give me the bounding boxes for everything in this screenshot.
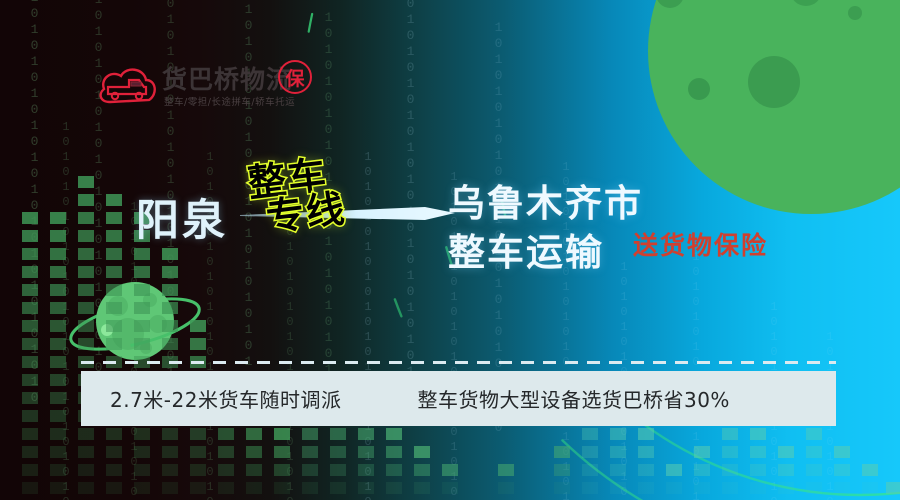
equalizer-block <box>22 374 38 386</box>
equalizer-block <box>50 338 66 350</box>
equalizer-block <box>134 428 150 440</box>
equalizer-block <box>722 428 738 440</box>
equalizer-block <box>750 464 766 476</box>
equalizer-block <box>106 284 122 296</box>
equalizer-block <box>274 446 290 458</box>
equalizer-block <box>22 320 38 332</box>
equalizer-block <box>50 284 66 296</box>
equalizer-block <box>694 482 710 494</box>
equalizer-block <box>106 194 122 206</box>
equalizer-block <box>274 482 290 494</box>
equalizer-block <box>78 230 94 242</box>
equalizer-block <box>834 446 850 458</box>
equalizer-column <box>442 464 458 500</box>
equalizer-column <box>694 446 710 500</box>
equalizer-block <box>190 446 206 458</box>
equalizer-column <box>666 464 682 500</box>
equalizer-block <box>190 320 206 332</box>
equalizer-block <box>134 320 150 332</box>
equalizer-block <box>50 248 66 260</box>
equalizer-block <box>50 464 66 476</box>
equalizer-block <box>750 428 766 440</box>
equalizer-block <box>498 482 514 494</box>
destination-service: 整车运输 <box>448 229 643 278</box>
equalizer-block <box>414 482 430 494</box>
equalizer-block <box>50 320 66 332</box>
equalizer-block <box>834 482 850 494</box>
equalizer-block <box>162 284 178 296</box>
equalizer-block <box>886 482 900 494</box>
equalizer-column <box>778 446 794 500</box>
equalizer-column <box>638 428 654 500</box>
equalizer-block <box>386 464 402 476</box>
equalizer-block <box>22 428 38 440</box>
equalizer-block <box>218 446 234 458</box>
equalizer-block <box>358 482 374 494</box>
equalizer-block <box>22 284 38 296</box>
equalizer-block <box>190 338 206 350</box>
equalizer-block <box>778 464 794 476</box>
destination-city: 乌鲁木齐市 <box>448 180 643 229</box>
equalizer-block <box>750 482 766 494</box>
equalizer-block <box>22 212 38 224</box>
equalizer-block <box>78 338 94 350</box>
equalizer-column <box>498 464 514 500</box>
equalizer-block <box>22 302 38 314</box>
equalizer-block <box>162 464 178 476</box>
insurance-badge-icon: 保 <box>278 60 312 94</box>
equalizer-column <box>834 446 850 500</box>
equalizer-block <box>106 320 122 332</box>
service-badge-line2: 专线 <box>264 190 348 236</box>
equalizer-block <box>162 320 178 332</box>
equalizer-block <box>302 482 318 494</box>
equalizer-block <box>22 392 38 404</box>
equalizer-block <box>638 464 654 476</box>
equalizer-block <box>582 428 598 440</box>
info-bar-left-text: 2.7米-22米货车随时调派 <box>110 384 341 413</box>
equalizer-block <box>134 464 150 476</box>
equalizer-block <box>50 302 66 314</box>
equalizer-block <box>106 302 122 314</box>
equalizer-block <box>134 446 150 458</box>
equalizer-block <box>358 464 374 476</box>
equalizer-block <box>302 464 318 476</box>
equalizer-block <box>638 446 654 458</box>
insurance-note: 送货物保险 <box>633 226 768 262</box>
equalizer-block <box>330 428 346 440</box>
equalizer-block <box>834 464 850 476</box>
equalizer-block <box>50 410 66 422</box>
equalizer-block <box>162 428 178 440</box>
equalizer-column <box>750 428 766 500</box>
equalizer-block <box>134 266 150 278</box>
equalizer-block <box>22 446 38 458</box>
equalizer-block <box>246 446 262 458</box>
equalizer-block <box>78 248 94 260</box>
equalizer-block <box>106 248 122 260</box>
equalizer-block <box>162 248 178 260</box>
equalizer-block <box>554 464 570 476</box>
equalizer-block <box>330 446 346 458</box>
equalizer-block <box>218 428 234 440</box>
equalizer-block <box>134 284 150 296</box>
equalizer-column <box>134 212 150 500</box>
equalizer-block <box>50 482 66 494</box>
binary-column: 10101010101010101010101010 <box>404 0 417 340</box>
equalizer-block <box>50 374 66 386</box>
equalizer-block <box>134 302 150 314</box>
equalizer-block <box>358 446 374 458</box>
equalizer-block <box>274 428 290 440</box>
equalizer-block <box>106 464 122 476</box>
equalizer-block <box>610 446 626 458</box>
equalizer-block <box>694 446 710 458</box>
equalizer-block <box>582 446 598 458</box>
equalizer-block <box>190 428 206 440</box>
equalizer-block <box>386 482 402 494</box>
equalizer-block <box>806 446 822 458</box>
equalizer-column <box>886 482 900 500</box>
equalizer-block <box>582 464 598 476</box>
equalizer-column <box>106 194 122 500</box>
equalizer-block <box>22 482 38 494</box>
equalizer-block <box>78 320 94 332</box>
equalizer-block <box>106 482 122 494</box>
info-bar-right-text: 整车货物大型设备选货巴桥省30% <box>417 384 729 413</box>
equalizer-block <box>50 446 66 458</box>
equalizer-column <box>386 428 402 500</box>
equalizer-block <box>106 338 122 350</box>
equalizer-block <box>246 464 262 476</box>
equalizer-block <box>78 428 94 440</box>
equalizer-column <box>274 428 290 500</box>
equalizer-column <box>862 464 878 500</box>
equalizer-block <box>778 482 794 494</box>
equalizer-block <box>862 482 878 494</box>
equalizer-block <box>78 266 94 278</box>
equalizer-block <box>50 392 66 404</box>
equalizer-block <box>218 482 234 494</box>
equalizer-block <box>78 464 94 476</box>
equalizer-block <box>22 338 38 350</box>
equalizer-block <box>638 428 654 440</box>
equalizer-block <box>414 464 430 476</box>
equalizer-block <box>22 248 38 260</box>
equalizer-block <box>22 230 38 242</box>
equalizer-block <box>722 464 738 476</box>
equalizer-block <box>134 248 150 260</box>
equalizer-block <box>106 230 122 242</box>
equalizer-block <box>78 284 94 296</box>
equalizer-block <box>386 428 402 440</box>
equalizer-block <box>22 266 38 278</box>
equalizer-block <box>162 482 178 494</box>
equalizer-block <box>610 428 626 440</box>
equalizer-block <box>246 482 262 494</box>
equalizer-column <box>78 176 94 500</box>
brand-tagline: 整车/零担/长途拼车/轿车托运 <box>164 94 295 108</box>
equalizer-block <box>554 482 570 494</box>
equalizer-block <box>722 446 738 458</box>
equalizer-block <box>246 428 262 440</box>
equalizer-block <box>134 482 150 494</box>
green-planet-icon <box>648 0 900 214</box>
brand-logo[interactable]: 货巴桥物流 整车/零担/长途拼车/轿车托运 保 <box>96 58 326 120</box>
equalizer-block <box>666 482 682 494</box>
equalizer-block <box>162 302 178 314</box>
binary-column: 10101010101010101010101010 <box>242 0 255 300</box>
equalizer-block <box>78 194 94 206</box>
equalizer-block <box>610 464 626 476</box>
equalizer-block <box>78 302 94 314</box>
equalizer-block <box>778 446 794 458</box>
equalizer-block <box>78 176 94 188</box>
equalizer-block <box>78 482 94 494</box>
equalizer-block <box>190 482 206 494</box>
equalizer-block <box>22 464 38 476</box>
equalizer-column <box>554 446 570 500</box>
equalizer-block <box>106 212 122 224</box>
equalizer-block <box>806 464 822 476</box>
equalizer-block <box>106 428 122 440</box>
equalizer-block <box>694 464 710 476</box>
service-badge: 整车 专线 <box>246 155 348 238</box>
equalizer-block <box>50 230 66 242</box>
equalizer-block <box>274 464 290 476</box>
equalizer-block <box>554 446 570 458</box>
equalizer-block <box>78 446 94 458</box>
equalizer-column <box>50 212 66 500</box>
equalizer-column <box>414 446 430 500</box>
equalizer-block <box>22 410 38 422</box>
equalizer-block <box>50 212 66 224</box>
equalizer-block <box>638 482 654 494</box>
equalizer-block <box>302 446 318 458</box>
equalizer-block <box>134 338 150 350</box>
equalizer-block <box>330 482 346 494</box>
equalizer-block <box>498 464 514 476</box>
equalizer-block <box>162 266 178 278</box>
equalizer-block <box>610 482 626 494</box>
equalizer-block <box>50 266 66 278</box>
dashed-divider <box>81 361 836 364</box>
equalizer-block <box>50 428 66 440</box>
equalizer-block <box>442 482 458 494</box>
equalizer-block <box>386 446 402 458</box>
equalizer-block <box>414 446 430 458</box>
equalizer-block <box>218 464 234 476</box>
equalizer-block <box>302 428 318 440</box>
destination-block: 乌鲁木齐市 整车运输 <box>448 180 643 278</box>
origin-city: 阳泉 <box>136 186 228 248</box>
poster-canvas: 1010101010101010101010101010101010101010… <box>0 0 900 500</box>
equalizer-block <box>750 446 766 458</box>
equalizer-block <box>330 464 346 476</box>
equalizer-block <box>722 482 738 494</box>
info-bar: 2.7米-22米货车随时调派 整车货物大型设备选货巴桥省30% <box>81 371 836 426</box>
equalizer-block <box>78 212 94 224</box>
equalizer-column <box>22 212 38 500</box>
equalizer-block <box>666 464 682 476</box>
equalizer-block <box>162 338 178 350</box>
equalizer-block <box>582 482 598 494</box>
equalizer-block <box>806 482 822 494</box>
brand-name: 货巴桥物流 <box>162 60 292 96</box>
truck-in-cloud-icon <box>96 58 160 114</box>
equalizer-block <box>106 446 122 458</box>
equalizer-block <box>22 356 38 368</box>
equalizer-block <box>106 266 122 278</box>
equalizer-block <box>862 464 878 476</box>
equalizer-block <box>190 464 206 476</box>
equalizer-block <box>806 428 822 440</box>
equalizer-block <box>162 446 178 458</box>
equalizer-block <box>442 464 458 476</box>
equalizer-block <box>358 428 374 440</box>
equalizer-block <box>50 356 66 368</box>
